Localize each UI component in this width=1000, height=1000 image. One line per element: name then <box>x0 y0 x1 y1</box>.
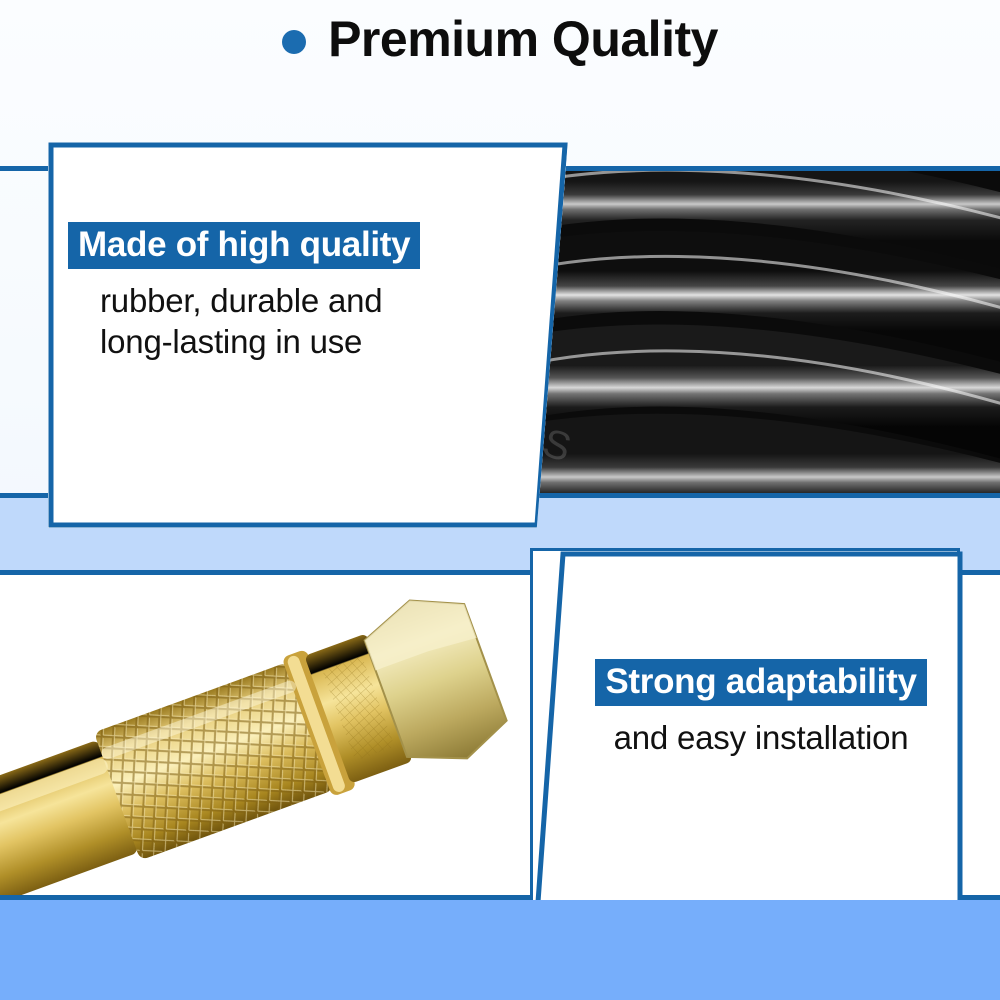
feature-2-headline: Strong adaptability <box>595 659 926 706</box>
feature-card-2-text: Strong adaptability and easy installatio… <box>551 659 971 759</box>
page-header: Premium Quality <box>0 0 1000 78</box>
brass-fitting-photo <box>0 575 540 897</box>
feature-1-headline: Made of high quality <box>68 222 420 269</box>
feature-card-1-text: Made of high quality rubber, durable and… <box>68 222 558 362</box>
feature-1-subline: rubber, durable and long-lasting in use <box>68 281 558 362</box>
feature-card-2: Strong adaptability and easy installatio… <box>530 548 960 930</box>
feature-2-subline: and easy installation <box>551 718 971 758</box>
feature-card-1: Made of high quality rubber, durable and… <box>48 142 568 528</box>
bottom-blue-band <box>0 900 1000 1000</box>
bullet-dot-icon <box>282 30 306 54</box>
page-title: Premium Quality <box>328 14 718 64</box>
infographic-root: Premium Quality <box>0 0 1000 1000</box>
